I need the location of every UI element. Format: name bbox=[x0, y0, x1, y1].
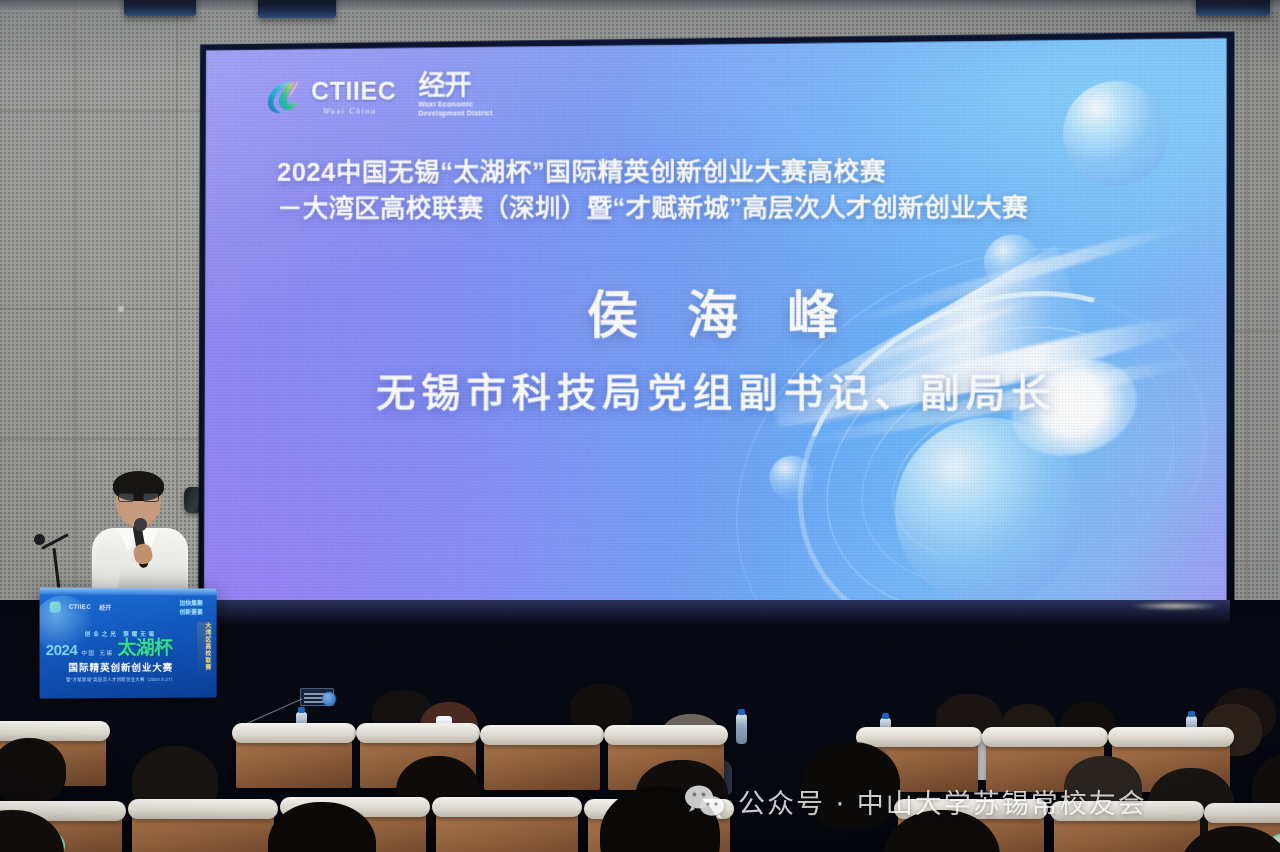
wall-seam bbox=[1246, 0, 1248, 700]
watermark: 公众号 · 中山大学苏锡常校友会 bbox=[684, 782, 1147, 821]
ctiiec-subtitle: Wuxi China bbox=[311, 108, 377, 116]
event-title-line1: 2024中国无锡“太湖杯”国际精英创新创业大赛高校赛 bbox=[277, 154, 1185, 192]
table-row bbox=[132, 810, 274, 852]
wxedd-logo: 经开 Wuxi Economic Development District bbox=[418, 72, 492, 119]
wxedd-wordmark: 经开 bbox=[418, 72, 470, 99]
wall-seam bbox=[0, 110, 200, 112]
podium-cup-name: 太湖杯 bbox=[117, 639, 172, 658]
ctiiec-logo: CTIIEC Wuxi China bbox=[263, 76, 396, 116]
wechat-icon bbox=[684, 784, 726, 820]
podium-logos: CTIIEC 经开 bbox=[50, 602, 111, 613]
ceiling-speaker bbox=[124, 0, 196, 16]
podium-ctiiec-icon bbox=[50, 602, 61, 613]
wxedd-subtitle: Wuxi Economic Development District bbox=[418, 101, 492, 119]
podium-year: 2024 bbox=[46, 643, 78, 658]
ceiling-speaker bbox=[1196, 0, 1270, 16]
event-title-line2: －大湾区高校联赛（深圳）暨“才赋新城”高层次人才创新创业大赛 bbox=[277, 190, 1185, 227]
podium-banner-top-text: 创业之光 照耀无锡 bbox=[46, 630, 195, 638]
event-title: 2024中国无锡“太湖杯”国际精英创新创业大赛高校赛 －大湾区高校联赛（深圳）暨… bbox=[277, 154, 1185, 228]
ceiling-speaker bbox=[258, 0, 336, 18]
ctiiec-name: CTIIEC bbox=[311, 80, 396, 105]
wxedd-subtitle-line1: Wuxi Economic bbox=[418, 101, 473, 108]
sponsor-logos-row: CTIIEC Wuxi China 经开 Wuxi Economic Devel… bbox=[263, 72, 493, 119]
ctiiec-swoosh-icon bbox=[263, 76, 303, 116]
glasses-icon bbox=[118, 493, 159, 502]
table-row bbox=[484, 736, 600, 790]
podium-slogan: 加快集聚 创新要素 bbox=[179, 600, 203, 618]
wall-fixture bbox=[118, 306, 124, 312]
table-row bbox=[436, 808, 578, 852]
presenter-indicator-dot bbox=[322, 692, 336, 706]
presentation-photo-scene: CTIIEC Wuxi China 经开 Wuxi Economic Devel… bbox=[0, 0, 1280, 852]
podium-year-row: 2024 中国 无锡 太湖杯 bbox=[46, 639, 195, 658]
podium-city-right: 无锡 bbox=[99, 651, 113, 657]
stage-light-glint bbox=[1130, 602, 1220, 610]
speaker-role: 无锡市科技局党组副书记、副局长 bbox=[201, 362, 1229, 419]
podium-slogan-line2: 创新要素 bbox=[179, 610, 203, 616]
wall-seam bbox=[0, 308, 200, 310]
table-row bbox=[236, 734, 352, 788]
led-screen-surface: CTIIEC Wuxi China 经开 Wuxi Economic Devel… bbox=[201, 37, 1229, 615]
podium-mic-capsule-icon bbox=[34, 534, 45, 545]
ctiiec-wordmark: CTIIEC Wuxi China bbox=[311, 80, 396, 116]
podium-city-left: 中国 bbox=[81, 651, 95, 657]
screen-content: CTIIEC Wuxi China 经开 Wuxi Economic Devel… bbox=[201, 37, 1229, 615]
led-video-wall: CTIIEC Wuxi China 经开 Wuxi Economic Devel… bbox=[196, 31, 1235, 621]
stage-screen-glow bbox=[190, 600, 1230, 626]
podium-slogan-line1: 加快集聚 bbox=[179, 601, 203, 607]
microphone-head-icon bbox=[134, 518, 147, 531]
wall-seam bbox=[74, 0, 76, 660]
podium-logo-left-text: CTIIEC bbox=[69, 604, 91, 610]
wxedd-subtitle-line2: Development District bbox=[418, 110, 492, 117]
speaker-name: 侯 海 峰 bbox=[201, 274, 1229, 349]
water-bottle-icon bbox=[736, 714, 747, 744]
watermark-text: 公众号 · 中山大学苏锡常校友会 bbox=[738, 782, 1147, 821]
audience-area bbox=[0, 660, 1280, 852]
podium-logo-right-text: 经开 bbox=[99, 603, 111, 612]
podium-top-edge bbox=[40, 587, 217, 595]
audience-person bbox=[0, 738, 66, 804]
wall-seam bbox=[0, 438, 200, 440]
